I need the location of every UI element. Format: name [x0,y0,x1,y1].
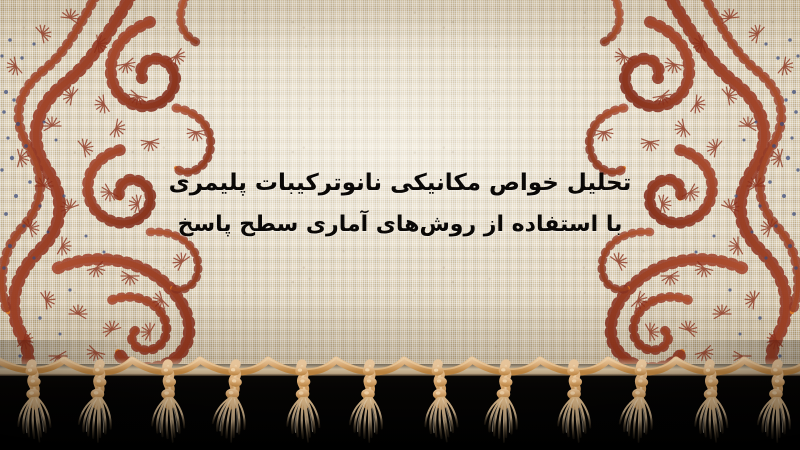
fabric-lighting-overlay [0,0,800,372]
black-background-band [0,364,800,450]
fabric-speckle-overlay [0,0,800,372]
fabric-background [0,0,800,372]
title-slide: تحلیل خواص مکانیکی نانوترکیبات پلیمری با… [0,0,800,450]
